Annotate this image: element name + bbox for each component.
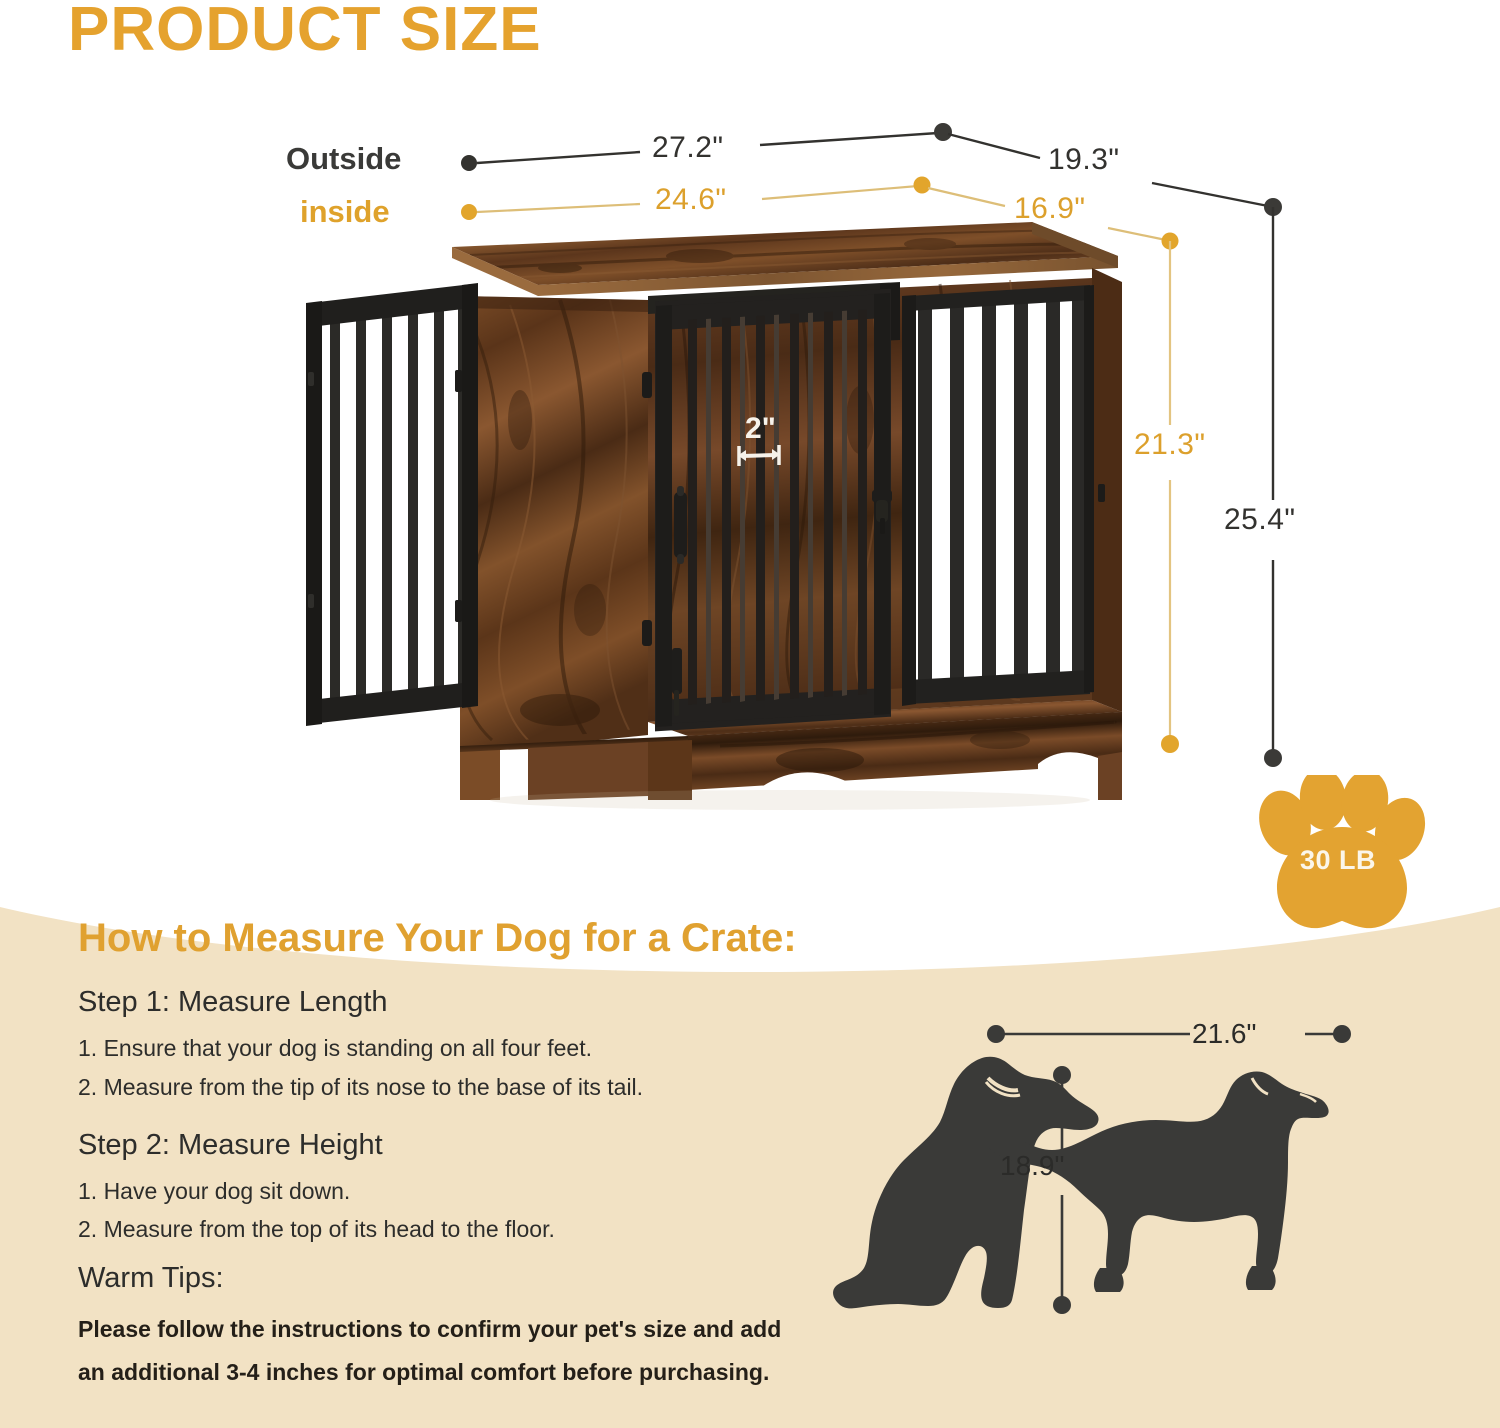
tips-line-2: an additional 3-4 inches for optimal com… bbox=[78, 1359, 769, 1386]
base-foot-left bbox=[460, 750, 500, 800]
inside-height-label: 21.3" bbox=[1134, 428, 1206, 462]
legend-outside-label: Outside bbox=[286, 141, 401, 177]
inside-depth-label: 16.9" bbox=[1014, 192, 1086, 226]
tips-line-1: Please follow the instructions to confir… bbox=[78, 1316, 781, 1343]
dog-length-label: 21.6" bbox=[1192, 1018, 1256, 1050]
step1-heading: Step 1: Measure Length bbox=[78, 986, 388, 1019]
bar-spacing-label: 2" bbox=[745, 412, 776, 446]
product-size-infographic: PRODUCT SIZE Outside inside bbox=[0, 0, 1500, 1428]
step1-line-1: 1. Ensure that your dog is standing on a… bbox=[78, 1035, 592, 1062]
outside-height-label: 25.4" bbox=[1224, 503, 1296, 537]
right-side-knob bbox=[1098, 484, 1105, 502]
step2-line-2: 2. Measure from the top of its head to t… bbox=[78, 1216, 555, 1243]
outside-width-label: 27.2" bbox=[652, 131, 724, 165]
weight-capacity-label: 30 LB bbox=[1268, 845, 1408, 876]
inside-width-label: 24.6" bbox=[655, 183, 727, 217]
cabinet-hinge-upper bbox=[642, 372, 652, 398]
dog-sitting-icon bbox=[833, 1057, 1098, 1309]
open-left-door bbox=[306, 283, 478, 726]
dog-length-dot-right bbox=[1333, 1025, 1351, 1043]
cabinet-hinge-lower bbox=[642, 620, 652, 646]
crate-right-edge bbox=[1092, 268, 1122, 712]
legend-inside-label: inside bbox=[300, 194, 390, 230]
step2-line-1: 1. Have your dog sit down. bbox=[78, 1178, 350, 1205]
dog-height-label: 18.9" bbox=[1000, 1150, 1064, 1182]
dog-crate-illustration bbox=[0, 0, 1500, 820]
tips-heading: Warm Tips: bbox=[78, 1262, 224, 1295]
dog-height-dot-bottom bbox=[1053, 1296, 1071, 1314]
base-foot-right bbox=[1098, 752, 1122, 800]
guide-title: How to Measure Your Dog for a Crate: bbox=[78, 916, 797, 961]
step1-line-2: 2. Measure from the tip of its nose to t… bbox=[78, 1074, 643, 1101]
dog-measurement-diagram bbox=[800, 1000, 1500, 1428]
step2-heading: Step 2: Measure Height bbox=[78, 1129, 383, 1162]
page-title: PRODUCT SIZE bbox=[68, 0, 542, 65]
gate-handle bbox=[674, 486, 687, 564]
outside-depth-label: 19.3" bbox=[1048, 143, 1120, 177]
